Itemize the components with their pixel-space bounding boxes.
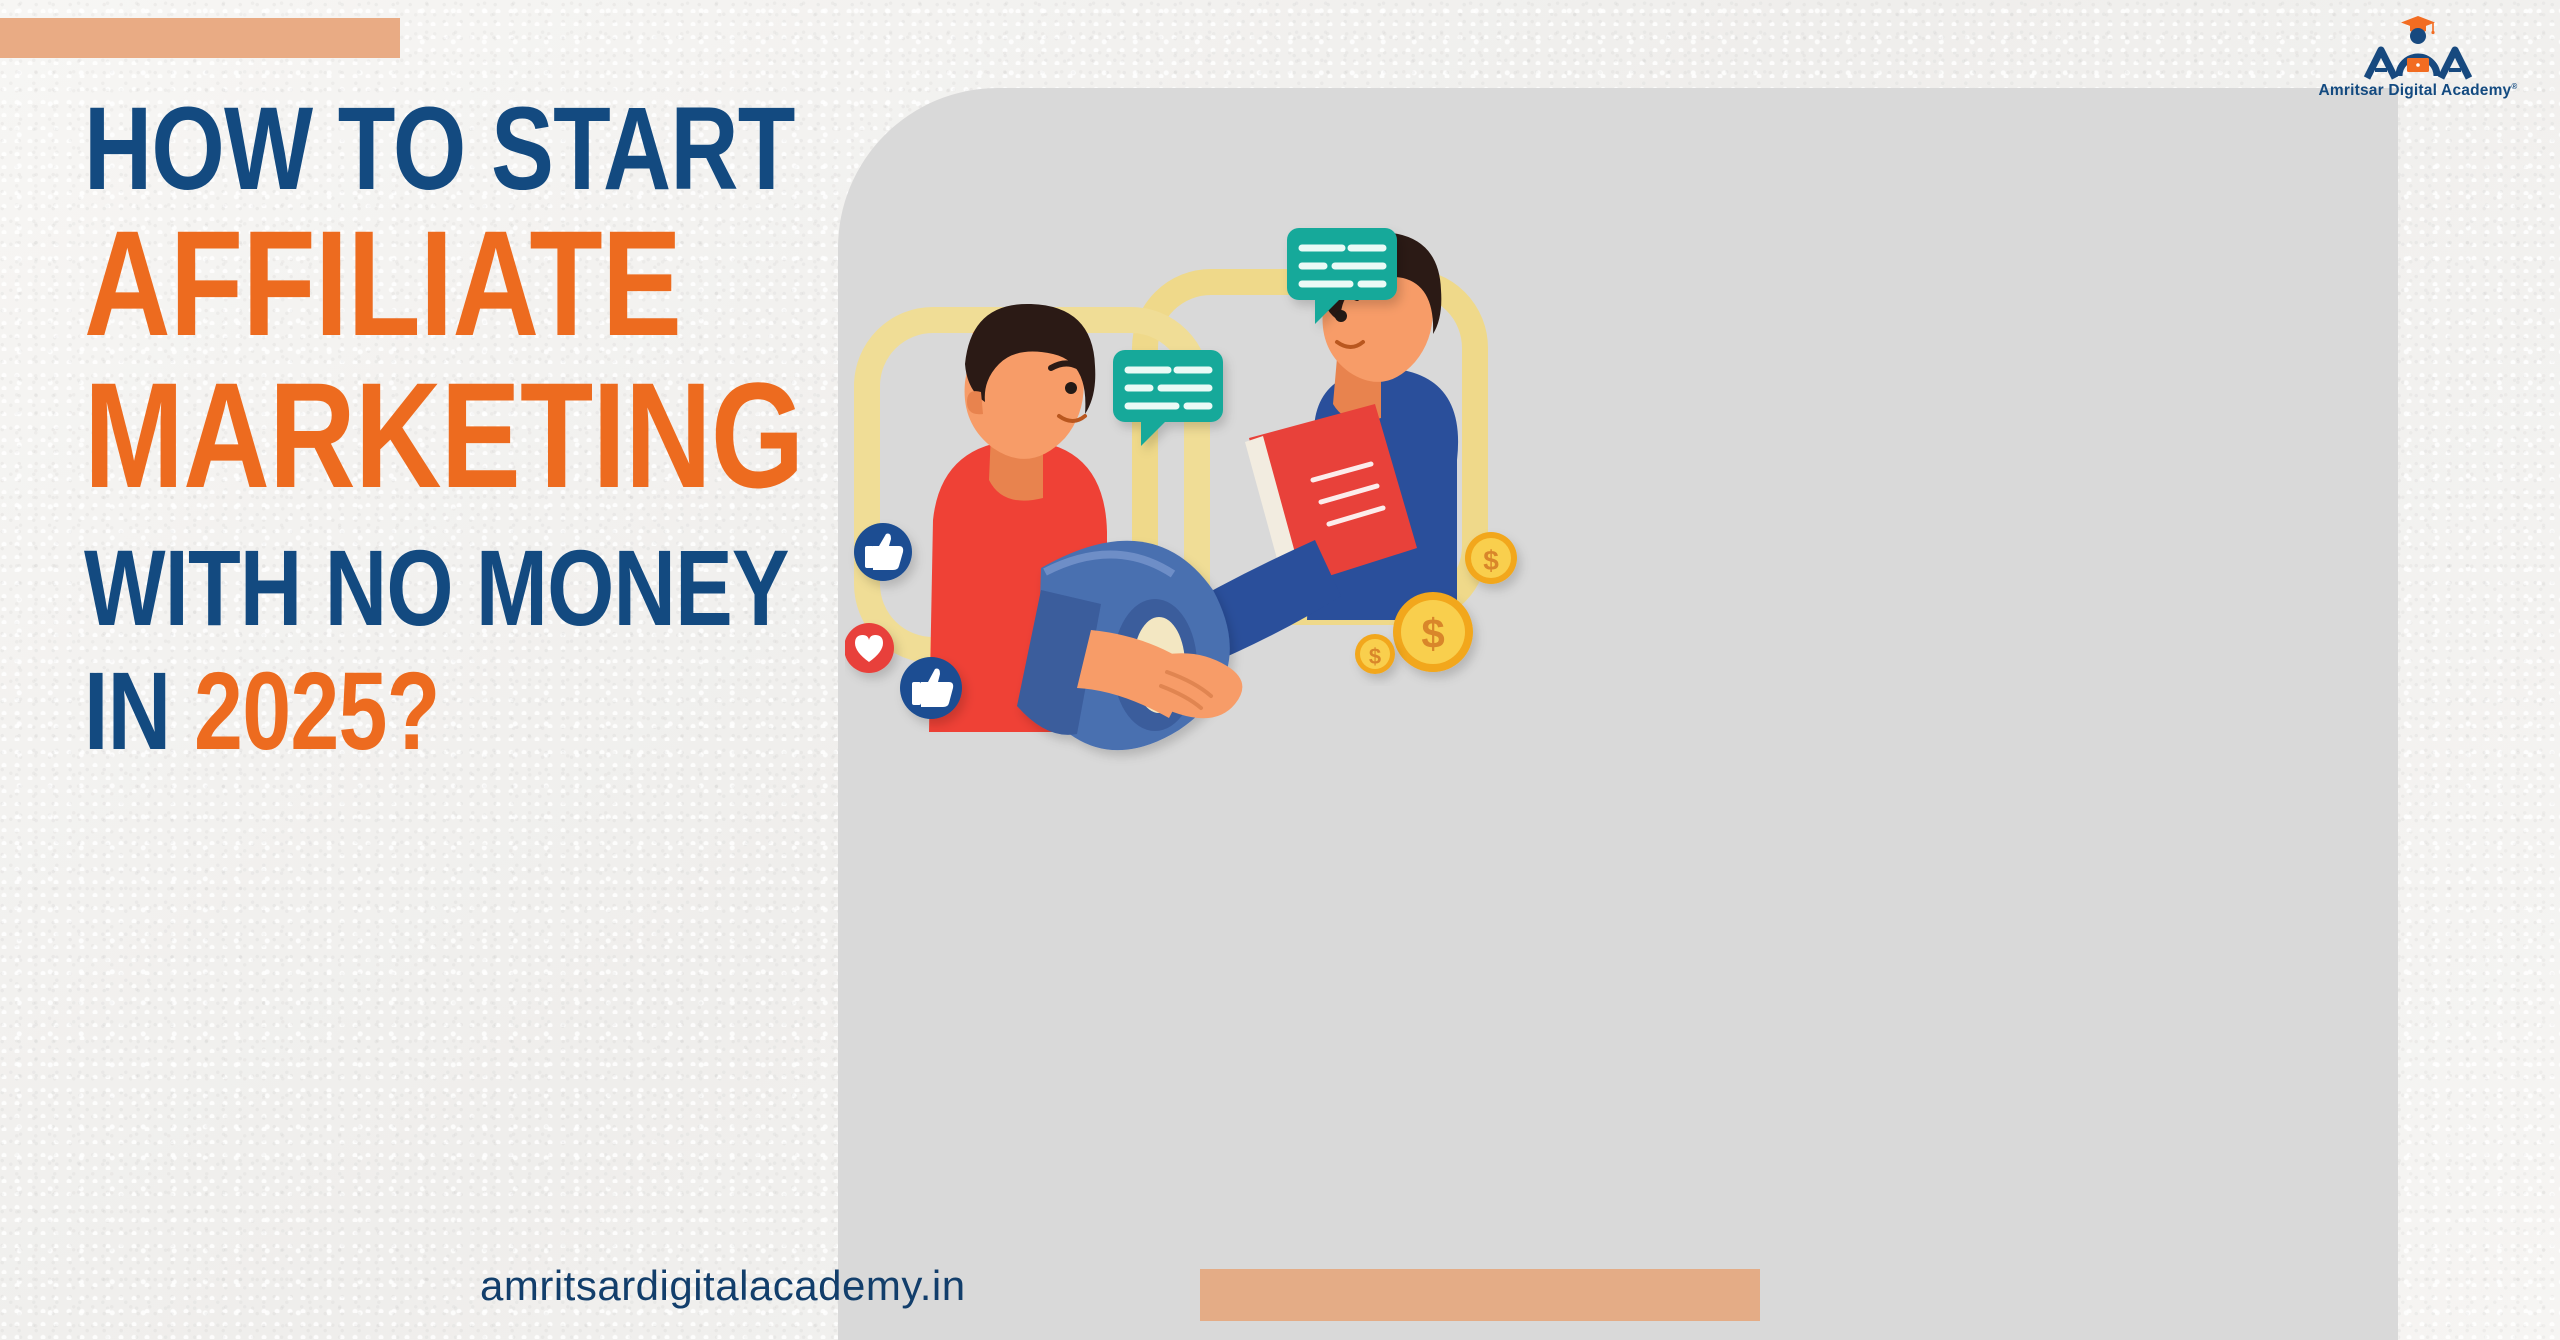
- logo-registered-mark: ®: [2511, 82, 2517, 91]
- website-url[interactable]: amritsardigitalacademy.in: [480, 1262, 966, 1310]
- logo-name: Amritsar Digital Academy: [2319, 82, 2512, 99]
- svg-text:$: $: [1483, 545, 1499, 576]
- headline-line-3: MARKETING: [84, 366, 692, 504]
- affiliate-marketing-illustration: $ $ $: [845, 120, 1565, 780]
- graduate-laptop-aoa-icon: [2363, 14, 2473, 80]
- decorative-bar-bottom-right: [1200, 1269, 1760, 1321]
- dollar-coin-medium: $: [1465, 532, 1517, 584]
- headline-block: HOW TO START AFFILIATE MARKETING WITH NO…: [84, 95, 844, 762]
- dollar-coin-small: $: [1355, 634, 1395, 674]
- heart-reaction-icon: [845, 623, 894, 673]
- dollar-coin-large: $: [1393, 592, 1473, 672]
- logo[interactable]: Amritsar Digital Academy®: [2318, 14, 2518, 100]
- headline-line-5-prefix: IN: [84, 650, 194, 773]
- illustration-svg: $ $ $: [845, 120, 1565, 780]
- svg-text:$: $: [1369, 644, 1381, 669]
- facebook-like-icon-bottom: [900, 657, 962, 719]
- headline-line-5: IN 2025?: [84, 661, 692, 762]
- headline-line-4: WITH NO MONEY: [84, 538, 692, 637]
- headline-line-1: HOW TO START: [84, 95, 692, 204]
- facebook-like-icon-top: [854, 523, 912, 581]
- headline-line-2: AFFILIATE: [84, 214, 692, 352]
- headline-year: 2025?: [194, 650, 440, 773]
- decorative-bar-top-left: [0, 18, 400, 58]
- logo-text: Amritsar Digital Academy®: [2318, 82, 2518, 100]
- svg-text:$: $: [1421, 610, 1444, 657]
